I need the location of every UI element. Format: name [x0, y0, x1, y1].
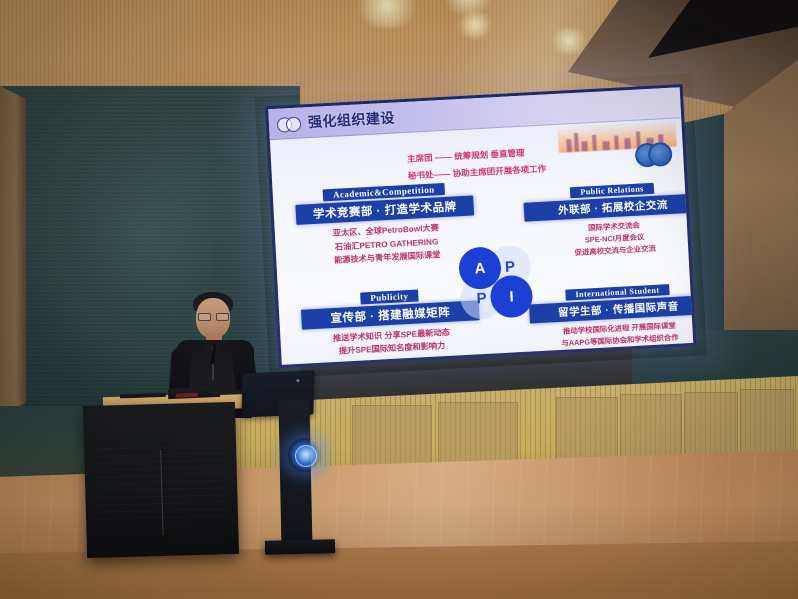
- lecture-hall-photo: 强化组织建设: [0, 0, 798, 599]
- column-right: Public Relations 外联部 · 拓展校企交流 国际学术交流会 SP…: [522, 173, 693, 357]
- spe-globe-badge-icon: [635, 141, 670, 165]
- block-public-relations: Public Relations 外联部 · 拓展校企交流 国际学术交流会 SP…: [523, 175, 694, 262]
- university-seal-emblem-icon: [288, 438, 322, 472]
- cabinet-door-seam: [160, 450, 163, 535]
- block-international-student-items: 推动学校国际化进程 开展国际课堂 与AAPG等国际协会和学术组织合作: [530, 318, 693, 352]
- screen-bezel: 强化组织建设: [265, 84, 696, 368]
- block-academic-items: 亚太区、全球PetroBowl大赛 石油汇PETRO GATHERING 能源技…: [297, 219, 477, 269]
- spe-globe-logo-icon: [277, 116, 304, 130]
- block-public-relations-items: 国际学术交流会 SPE-NCI月度会议 促进高校交流与企业交流: [525, 216, 693, 262]
- wall-panel: [620, 394, 682, 464]
- ceiling-light-icon: [455, 12, 495, 38]
- block-academic: Academic&Competition 学术竞赛部 · 打造学术品牌 亚太区、…: [294, 177, 476, 269]
- podium-column: [278, 400, 312, 553]
- slide-title: 强化组织建设: [307, 107, 395, 132]
- column-left: Academic&Competition 学术竞赛部 · 打造学术品牌 亚太区、…: [294, 177, 481, 364]
- appi-venn-diagram: A P P I: [458, 244, 536, 322]
- block-publicity-en: Publicity: [360, 289, 419, 304]
- projection-screen: 强化组织建设: [265, 84, 696, 368]
- wall-panel: [740, 389, 794, 459]
- wall-panel: [684, 392, 738, 462]
- wall-left-wood-edge: [0, 86, 26, 416]
- block-public-relations-en: Public Relations: [570, 183, 654, 198]
- block-publicity-items: 推送学术知识 分享SPE最新动态 提升SPE国际知名度和影响力: [302, 324, 481, 360]
- wall-panel: [556, 397, 618, 467]
- slide-surface: 强化组织建设: [268, 87, 693, 365]
- block-international-student: International Student 留学生部 · 传播国际声音 推动学校…: [528, 277, 693, 352]
- podium-cabinet: [83, 402, 239, 558]
- podium-base: [265, 539, 335, 554]
- glasses-icon: [198, 313, 228, 319]
- block-publicity: Publicity 宣传部 · 搭建融媒矩阵 推送学术知识 分享SPE最新动态 …: [300, 282, 481, 360]
- slide-body: 主席团 —— 统筹规划 垂直管理 秘书处—— 协助主席团开展各项工作 Acade…: [270, 118, 693, 365]
